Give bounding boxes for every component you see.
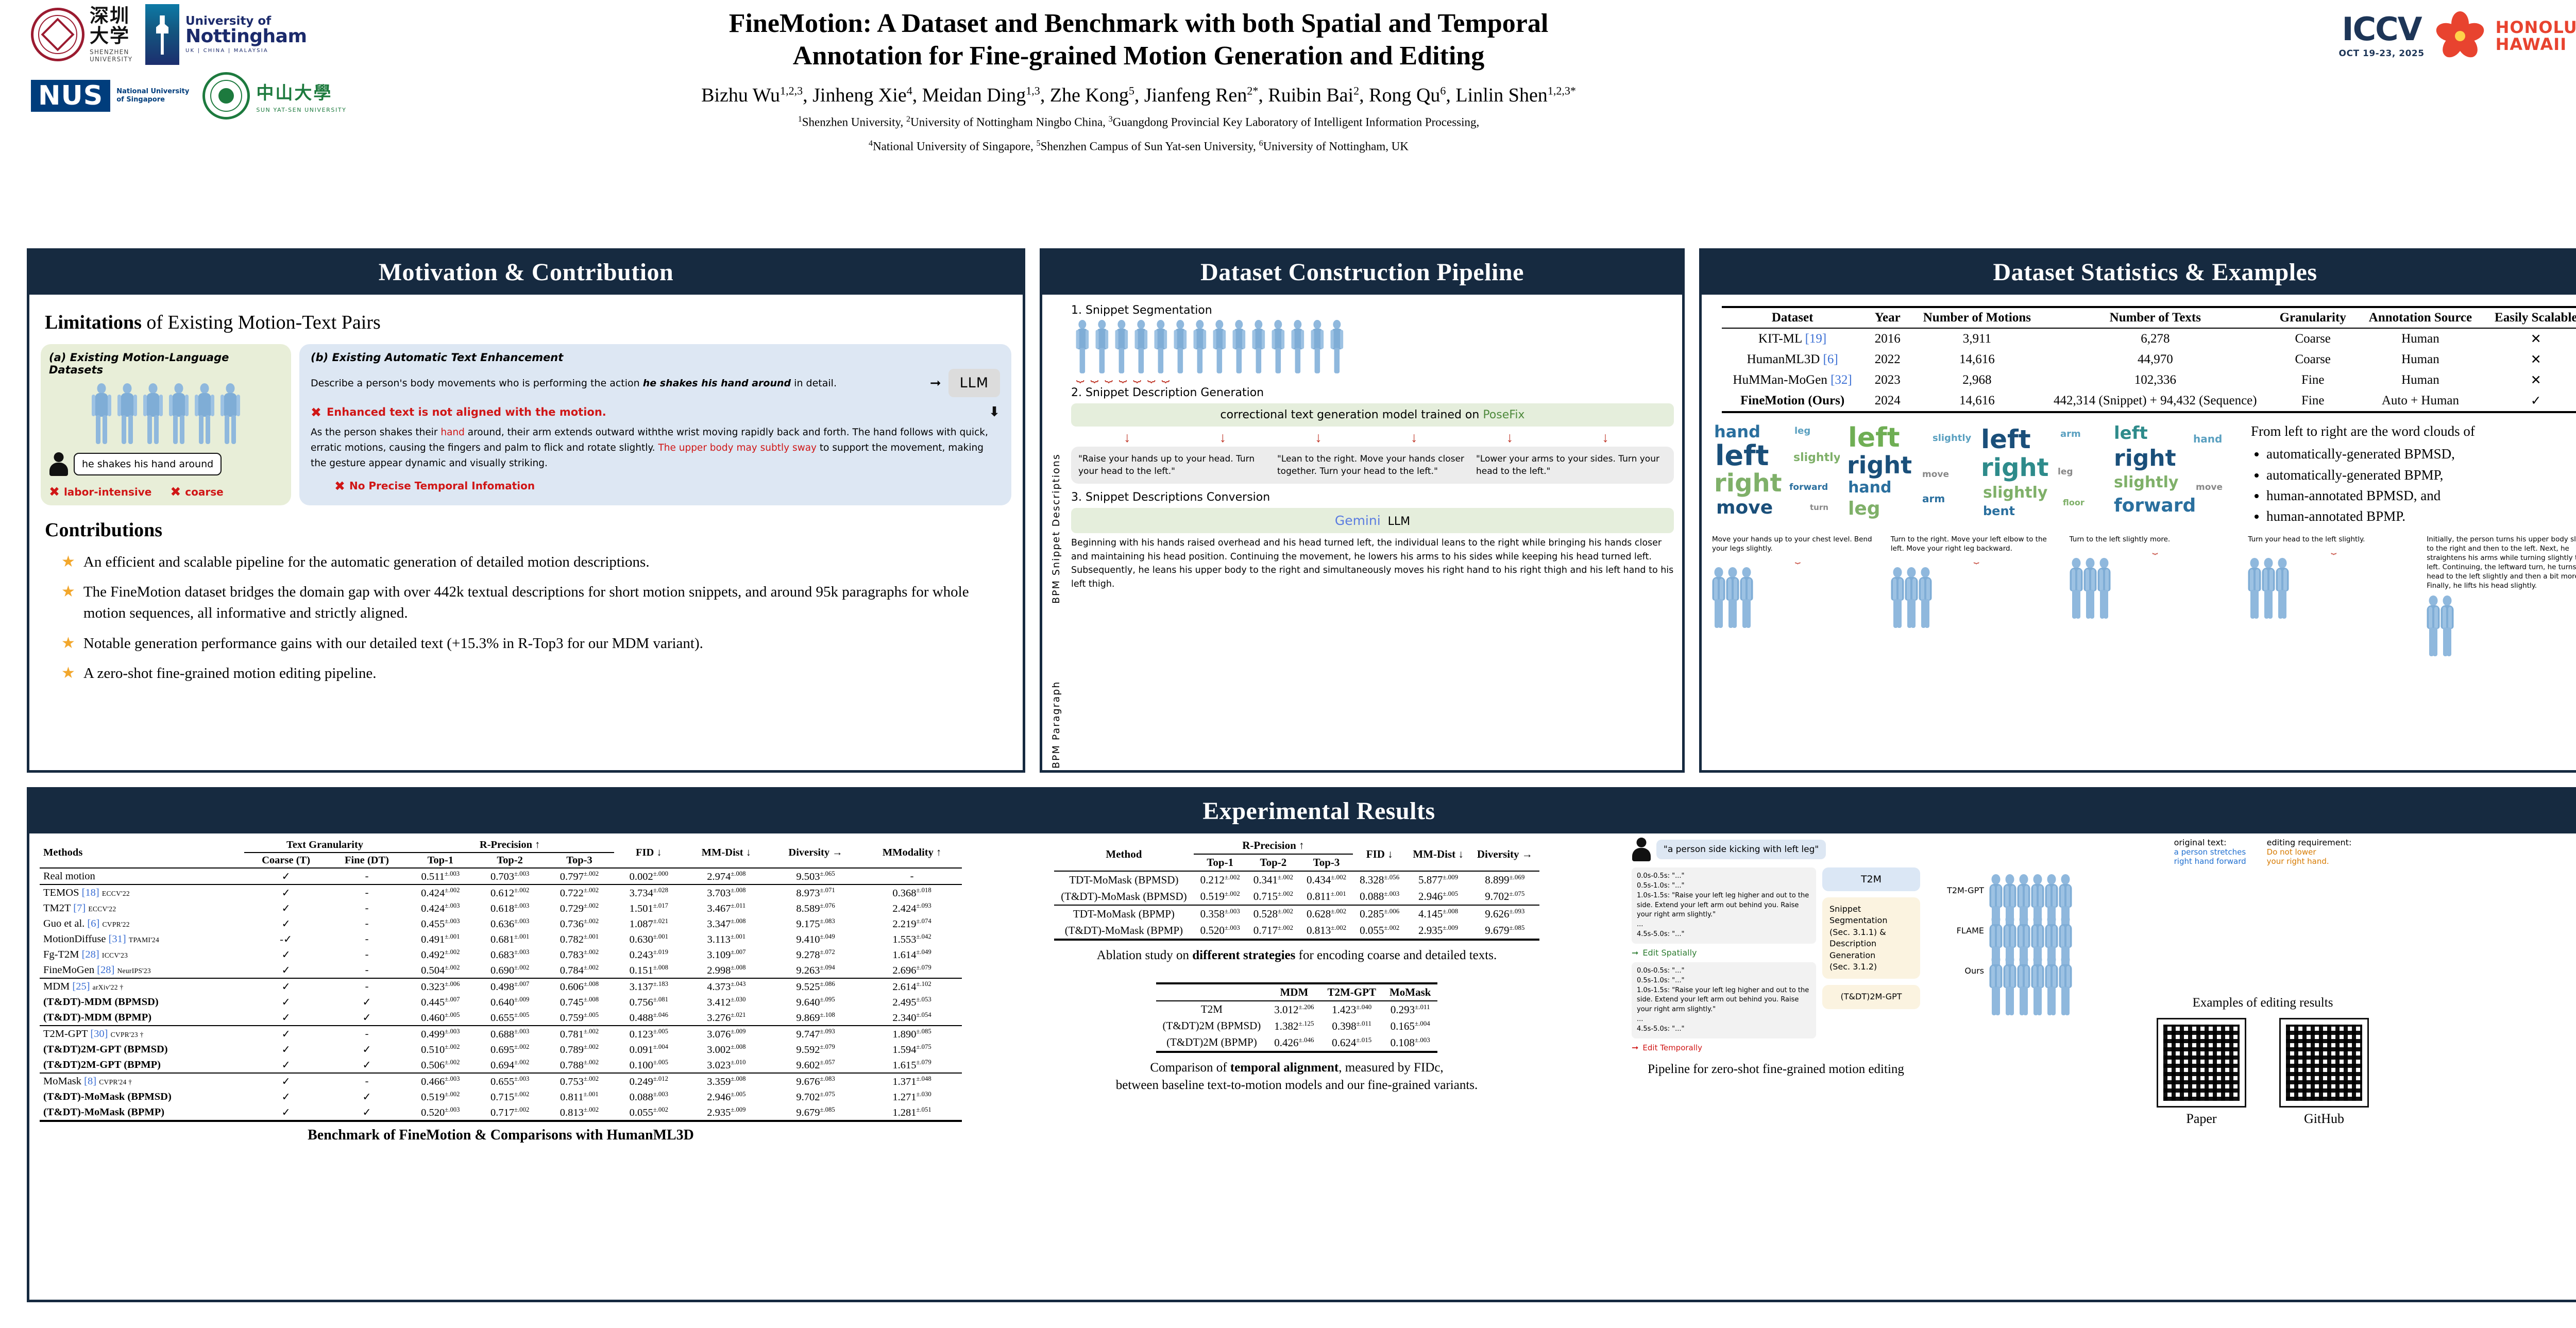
- nottingham-line3: UK | CHINA | MALAYSIA: [185, 48, 307, 54]
- ablation1-caption: Ablation study on different strategies f…: [972, 947, 1621, 965]
- arrow-down-icon: ↓: [1602, 430, 1609, 446]
- example-figure-strip: [2248, 558, 2419, 593]
- cell-top2: 0.703±.003: [475, 868, 545, 884]
- human-figure-icon: [1989, 955, 2003, 990]
- cell-mmdist: 2.998±.008: [684, 962, 769, 978]
- cell-motions: 14,616: [1912, 390, 2042, 412]
- warning-not-aligned-label: Enhanced text is not aligned with the mo…: [327, 406, 606, 418]
- cell-source: Human: [2358, 328, 2483, 349]
- flaw-labor-intensive-label: labor-intensive: [64, 486, 151, 498]
- cell-method: TDT-MoMask (BPMSD): [1054, 871, 1193, 888]
- arrow-down-icon: ⬇: [989, 404, 1000, 420]
- col-top1: Top-1: [1194, 854, 1247, 871]
- cell-diversity: 9.525±.086: [769, 978, 862, 994]
- timeline-after: 0.0s-0.5s: "..." 0.5s-1.0s: "..." 1.0s-1…: [1632, 962, 1816, 1038]
- brace-icon: ⏟: [2070, 544, 2241, 555]
- cell-fid: 0.088±.003: [1353, 888, 1406, 905]
- list-item: ★The FineMotion dataset bridges the doma…: [61, 582, 1011, 624]
- cell-fine: -: [328, 900, 406, 916]
- cell-diversity: 8.973±.071: [769, 884, 862, 900]
- human-figure-icon: [2248, 558, 2261, 593]
- col-year: Year: [1863, 307, 1912, 328]
- prompt-prefix: Describe a person's body movements who i…: [311, 378, 643, 389]
- enhanced-text-red1: hand: [440, 427, 465, 438]
- cell-top1: 0.491±.001: [405, 931, 475, 947]
- conference-city-line1: HONOLULU: [2496, 19, 2576, 36]
- side-label-bpm-paragraph: BPM Paragraph: [1050, 655, 1062, 769]
- example-cell: Move your hands up to your chest level. …: [1712, 535, 1884, 631]
- row-label-t2m-gpt: T2M-GPT: [1927, 886, 1984, 895]
- human-figure-icon: [1270, 320, 1286, 362]
- timeline-line: 0.5s-1.0s: "...": [1637, 976, 1811, 986]
- cell-top3: 0.753±.002: [545, 1073, 614, 1089]
- human-figure-icon: [2017, 914, 2030, 949]
- cell-coarse: ✓: [244, 1057, 328, 1073]
- human-figure-icon: [1309, 320, 1326, 362]
- human-figure-icon: [218, 383, 242, 444]
- cell-top2: 0.717±.002: [1247, 922, 1300, 940]
- human-figure-icon: [1891, 567, 1904, 602]
- row-label-ours: Ours: [1927, 966, 1984, 976]
- cell-method: (T&DT)2M (BPMP): [1156, 1034, 1268, 1052]
- cell-top3: 0.811±.001: [1300, 888, 1353, 905]
- wc-word: left: [1715, 442, 1769, 470]
- cell-mmdist: 3.113±.001: [684, 931, 769, 947]
- cell-mmodality: 1.594±.075: [862, 1042, 962, 1057]
- logo-sun-yat-sen-university: 中山大學 SUN YAT-SEN UNIVERSITY: [202, 72, 346, 120]
- cell-coarse: ✓: [244, 1042, 328, 1057]
- original-text-label: original text:: [2174, 838, 2246, 847]
- cell-mmodality: 2.614±.102: [862, 978, 962, 994]
- nottingham-line2: Nottingham: [185, 27, 307, 46]
- arrow-down-icon: ↓: [1124, 430, 1131, 446]
- col-fid: FID ↓: [1353, 838, 1406, 871]
- cell-mmdist: 2.935±.009: [1406, 922, 1470, 940]
- iccv-dates: OCT 19-23, 2025: [2339, 48, 2425, 59]
- human-figure-icon: [1113, 320, 1130, 362]
- row-label-flame: FLAME: [1927, 926, 1984, 935]
- person-icon: [1632, 838, 1651, 861]
- example-figure-strip: [2070, 558, 2241, 593]
- cell-coarse: ✓: [244, 1089, 328, 1104]
- qr-github[interactable]: GitHub: [2281, 1019, 2367, 1127]
- ablation2-caption-line2: between baseline text-to-motion models a…: [972, 1077, 1621, 1095]
- snippet-box-line3: Description Generation: [1829, 938, 1913, 961]
- cell-fid: 1.087±.021: [614, 916, 684, 931]
- conference-city-line2: HAWAII: [2496, 36, 2576, 53]
- affiliation-line2: 4National University of Singapore, 5Shen…: [546, 138, 1731, 155]
- cell-fine: ✓: [328, 1089, 406, 1104]
- col-mm-dist: MM-Dist ↓: [684, 838, 769, 868]
- table-row: (T&DT)2M-GPT (BPMP)✓✓0.506±.0020.694±.00…: [40, 1057, 962, 1073]
- wc-word: hand: [1714, 423, 1760, 440]
- example-text: Turn to the right. Move your left elbow …: [1891, 535, 2062, 553]
- table-row: (T&DT)-MoMask (BPMP)✓✓0.520±.0030.717±.0…: [40, 1104, 962, 1121]
- human-figure-icon: [2003, 955, 2016, 990]
- wc-word: slightly: [2114, 475, 2178, 490]
- cell-method: (T&DT)2M-GPT (BPMSD): [40, 1042, 244, 1057]
- cell-method: Real motion: [40, 868, 244, 884]
- cell-diversity: 9.676±.083: [769, 1073, 862, 1089]
- cell-diversity: 8.589±.076: [769, 900, 862, 916]
- col-motions: Number of Motions: [1912, 307, 2042, 328]
- cell-mmodality: 2.340±.054: [862, 1010, 962, 1026]
- cell-coarse: ✓: [244, 962, 328, 978]
- arrow-right-icon: ➞: [1632, 1043, 1638, 1053]
- person-icon: [49, 452, 69, 476]
- col-diversity: Diversity →: [1470, 838, 1539, 871]
- list-item: human-annotated BPMSD, and: [2266, 486, 2475, 505]
- cell-diversity: 9.503±.065: [769, 868, 862, 884]
- human-figure-icon: [2276, 558, 2289, 593]
- wc-word: arm: [1922, 493, 1945, 504]
- timeline-line: 0.0s-0.5s: "...": [1637, 872, 1811, 881]
- iccv-wordmark: ICCV: [2339, 13, 2425, 45]
- poster-header: 深圳大学 SHENZHEN UNIVERSITY University of N…: [0, 0, 2576, 206]
- benchmark-caption-bold: Benchmark of FineMotion: [308, 1127, 471, 1143]
- cell-top3: 0.736±.002: [545, 916, 614, 931]
- snippet-box-line2: (Sec. 3.1.1) &: [1829, 927, 1913, 938]
- col-top3: Top-3: [545, 853, 614, 868]
- cell-texts: 44,970: [2042, 349, 2268, 370]
- benchmark-caption: Benchmark of FineMotion & Comparisons wi…: [40, 1127, 962, 1144]
- wc-word: leg: [1794, 427, 1810, 436]
- motion-caption-text: he shakes his hand around: [74, 453, 222, 475]
- col-r-precision: R-Precision ↑: [405, 838, 614, 853]
- cross-icon: ✖: [311, 406, 321, 419]
- cell-diversity: 9.175±.083: [769, 916, 862, 931]
- cell-momask: 0.108±.003: [1383, 1034, 1438, 1052]
- poster-title-line1: FineMotion: A Dataset and Benchmark with…: [546, 7, 1731, 40]
- table-row: HumanML3D [6] 2022 14,616 44,970 Coarse …: [1722, 349, 2576, 370]
- cell-t2m-gpt: 1.423±.040: [1320, 1001, 1383, 1018]
- title-block: FineMotion: A Dataset and Benchmark with…: [546, 7, 1731, 156]
- human-figure-icon: [2427, 595, 2440, 631]
- cell-top3: 0.789±.002: [545, 1042, 614, 1057]
- cell-granularity: Coarse: [2268, 349, 2358, 370]
- edit-spatially-label: Edit Spatially: [1642, 948, 1697, 958]
- table-row: (T&DT)-MoMask (BPMP)0.520±.0030.717±.002…: [1054, 922, 1539, 940]
- timeline-line: 0.0s-0.5s: "...": [1637, 966, 1811, 976]
- table-row: MoMask [8] CVPR'24 †✓-0.466±.0030.655±.0…: [40, 1073, 962, 1089]
- example-cell: Initially, the person turns his upper bo…: [2427, 535, 2576, 631]
- cell-mmodality: 1.553±.042: [862, 931, 962, 947]
- cell-year: 2022: [1863, 349, 1912, 370]
- table-row: (T&DT)-MDM (BPMSD)✓✓0.445±.0070.640±.009…: [40, 994, 962, 1010]
- human-figure-icon: [2017, 874, 2030, 909]
- card-a-flaws: ✖ labor-intensive ✖ coarse: [49, 485, 283, 498]
- cell-fid: 0.100±.005: [614, 1057, 684, 1073]
- cell-diversity: 9.626±.093: [1470, 905, 1539, 922]
- cell-mdm: 0.426±.046: [1267, 1034, 1320, 1052]
- snippet-arrow-row: ↓↓↓↓↓↓: [1079, 430, 1653, 446]
- logo-group-top: 深圳大学 SHENZHEN UNIVERSITY University of N…: [31, 4, 307, 65]
- cell-top2: 0.688±.003: [475, 1026, 545, 1042]
- cell-top1: 0.460±.005: [405, 1010, 475, 1026]
- cell-scalable: ✕: [2483, 370, 2576, 390]
- human-figure-icon: [1919, 567, 1932, 602]
- limitations-heading: Limitations of Existing Motion-Text Pair…: [45, 311, 1011, 334]
- cell-top3: 0.782±.001: [545, 931, 614, 947]
- qr-code-icon[interactable]: [2158, 1019, 2245, 1106]
- human-figure-icon: [2031, 955, 2044, 990]
- table-row: (T&DT)2M (BPMSD)1.382±.1250.398±.0110.16…: [1156, 1018, 1438, 1034]
- cell-diversity: 9.679±.085: [769, 1104, 862, 1121]
- panel-title-stats: Dataset Statistics & Examples: [1702, 251, 2576, 295]
- col-text-granularity: Text Granularity: [244, 838, 406, 853]
- col-mdm: MDM: [1267, 983, 1320, 1001]
- cell-top3: 0.729±.002: [545, 900, 614, 916]
- cross-icon: ✖: [170, 485, 181, 498]
- cell-mmodality: 1.615±.079: [862, 1057, 962, 1073]
- qr-code-icon[interactable]: [2281, 1019, 2367, 1106]
- cell-fine: ✓: [328, 1104, 406, 1121]
- cell-diversity: 9.602±.057: [769, 1057, 862, 1073]
- cell-fine: ✓: [328, 1057, 406, 1073]
- cell-mmdist: 5.877±.009: [1406, 871, 1470, 888]
- wc-word: slightly: [1793, 452, 1840, 464]
- cell-mmdist: 3.359±.008: [684, 1073, 769, 1089]
- cell-mmodality: 2.696±.079: [862, 962, 962, 978]
- col-r-precision: R-Precision ↑: [1194, 838, 1353, 854]
- timeline-line: 4.5s-5.0s: "...": [1637, 1025, 1811, 1034]
- cell-source: Auto + Human: [2358, 390, 2483, 412]
- cell-mdm: 3.012±.206: [1267, 1001, 1320, 1018]
- cell-mmodality: 1.371±.048: [862, 1073, 962, 1089]
- logo-university-of-nottingham: University of Nottingham UK | CHINA | MA…: [145, 4, 307, 65]
- cell-method: TEMOS [18] ECCV'22: [40, 884, 244, 900]
- card-existing-text-enhancement: (b) Existing Automatic Text Enhancement …: [299, 344, 1011, 505]
- cell-method: (T&DT)2M-GPT (BPMP): [40, 1057, 244, 1073]
- cell-coarse: -✓: [244, 931, 328, 947]
- cell-mmdist: 3.023±.010: [684, 1057, 769, 1073]
- cell-top2: 0.683±.003: [475, 947, 545, 962]
- cell-diversity: 9.679±.085: [1470, 922, 1539, 940]
- wc-word: leg: [1848, 500, 1880, 518]
- qr-paper[interactable]: Paper: [2158, 1019, 2245, 1127]
- cell-top2: 0.715±.002: [475, 1089, 545, 1104]
- editing-result-row: [1989, 914, 2072, 949]
- cell-fid: 0.285±.006: [1353, 905, 1406, 922]
- conference-badge: ICCV OCT 19-23, 2025 HONOLULU HAWAII: [2339, 13, 2576, 59]
- logo-shenzhen-university: 深圳大学 SHENZHEN UNIVERSITY: [31, 4, 132, 65]
- cell-coarse: ✓: [244, 1010, 328, 1026]
- limitations-heading-rest: of Existing Motion-Text Pairs: [142, 312, 381, 333]
- wc-word: move: [2196, 483, 2223, 492]
- human-figure-icon: [2003, 874, 2016, 909]
- cell-top3: 0.813±.002: [545, 1104, 614, 1121]
- cell-top1: 0.519±.002: [1194, 888, 1247, 905]
- example-text: Turn to the left slightly more.: [2070, 535, 2241, 544]
- cell-fid: 0.055±.002: [614, 1104, 684, 1121]
- table-row: Fg-T2M [28] ICCV'23✓-0.492±.0020.683±.00…: [40, 947, 962, 962]
- prompt-suffix: in detail.: [791, 378, 837, 389]
- cell-method: (T&DT)-MDM (BPMSD): [40, 994, 244, 1010]
- cell-fid: 0.055±.002: [1353, 922, 1406, 940]
- llm-label: LLM: [1388, 515, 1411, 528]
- cell-mmodality: 0.368±.018: [862, 884, 962, 900]
- table-header-group-row: Methods Text Granularity R-Precision ↑ F…: [40, 838, 962, 853]
- timeline-line: 1.0s-1.5s: "Raise your left leg higher a…: [1637, 891, 1811, 921]
- cell-top2: 0.618±.003: [475, 900, 545, 916]
- list-item: human-annotated BPMP.: [2266, 506, 2475, 526]
- logo-nus: NUS National University of Singapore: [31, 80, 189, 112]
- arrow-down-icon: ↓: [1506, 430, 1514, 446]
- timeline-line: ...: [1637, 1015, 1811, 1025]
- qr-paper-label: Paper: [2158, 1111, 2245, 1127]
- col-momask: MoMask: [1383, 983, 1438, 1001]
- temporal-alignment-table: MDM T2M-GPT MoMask T2M3.012±.2061.423±.0…: [1156, 982, 1438, 1053]
- cell-fine: -: [328, 962, 406, 978]
- human-figure-icon: [2045, 874, 2058, 909]
- limitations-row: (a) Existing Motion-Language Datasets he…: [41, 344, 1011, 505]
- arrow-down-icon: ↓: [1411, 430, 1418, 446]
- cell-fine: -: [328, 931, 406, 947]
- poster-root: 深圳大学 SHENZHEN UNIVERSITY University of N…: [0, 0, 2576, 1328]
- col-granularity: Granularity: [2268, 307, 2358, 328]
- cell-top2: 0.655±.003: [475, 1073, 545, 1089]
- wc-word: bent: [1983, 505, 2015, 517]
- panel-experimental-results: Experimental Results Methods Text Granul…: [27, 787, 2576, 1302]
- cell-top3: 0.813±.002: [1300, 922, 1353, 940]
- human-figure-icon: [2045, 955, 2058, 990]
- llm-prompt-row: Describe a person's body movements who i…: [311, 369, 1000, 397]
- cell-top1: 0.212±.002: [1194, 871, 1247, 888]
- ablation1-caption-pre: Ablation study on: [1097, 948, 1192, 962]
- editing-requirement-label: editing requirement:: [2267, 838, 2352, 847]
- example-cell: Turn to the right. Move your left elbow …: [1891, 535, 2062, 631]
- table-row: T2M-GPT [30] CVPR'23 †✓-0.499±.0030.688±…: [40, 1026, 962, 1042]
- cell-method: (T&DT)-MDM (BPMP): [40, 1010, 244, 1026]
- cell-top2: 0.690±.002: [475, 962, 545, 978]
- cell-mdm: 1.382±.125: [1267, 1018, 1320, 1034]
- editing-result-row: [1989, 874, 2072, 909]
- wordcloud-row: hand left right move leg slightly forwar…: [1712, 421, 2576, 527]
- original-text-line2: a person stretches: [2174, 847, 2246, 857]
- human-figure-icon: [2003, 914, 2016, 949]
- cell-method: Fg-T2M [28] ICCV'23: [40, 947, 244, 962]
- example-text: Move your hands up to your chest level. …: [1712, 535, 1884, 553]
- cell-top2: 0.640±.009: [475, 994, 545, 1010]
- wc-word: leg: [2058, 468, 2073, 476]
- cell-top3: 0.811±.001: [545, 1089, 614, 1104]
- example-figure-strip: [1891, 567, 2062, 602]
- cell-mmodality: 1.271±.030: [862, 1089, 962, 1104]
- cell-t2m-gpt: 0.624±.015: [1320, 1034, 1383, 1052]
- cell-top2: 0.612±.002: [475, 884, 545, 900]
- cell-fine: -: [328, 868, 406, 884]
- cell-top2: 0.636±.003: [475, 916, 545, 931]
- human-figure-icon: [1712, 567, 1725, 602]
- ablation1-caption-post: for encoding coarse and detailed texts.: [1295, 948, 1497, 962]
- brace-icon: ⏟: [2248, 544, 2419, 555]
- cell-year: 2024: [1863, 390, 1912, 412]
- cell-diversity: 9.640±.095: [769, 994, 862, 1010]
- table-row: TM2T [7] ECCV'22✓-0.424±.0030.618±.0030.…: [40, 900, 962, 916]
- human-figure-icon: [1905, 567, 1918, 602]
- col-top3: Top-3: [1300, 854, 1353, 871]
- cell-mmdist: 2.974±.008: [684, 868, 769, 884]
- wc-word: right: [1847, 453, 1912, 477]
- cell-granularity: Coarse: [2268, 328, 2358, 349]
- cell-texts: 6,278: [2042, 328, 2268, 349]
- list-item: automatically-generated BPMP,: [2266, 465, 2475, 485]
- example-cell: Turn your head to the left slightly. ⏟: [2248, 535, 2419, 631]
- editing-column: "a person side kicking with left leg" 0.…: [1632, 838, 2576, 1144]
- cell-texts: 102,336: [2042, 370, 2268, 390]
- cell-mmodality: 2.424±.093: [862, 900, 962, 916]
- timeline-line: 0.5s-1.0s: "...": [1637, 881, 1811, 891]
- arrow-right-icon: ➞: [1632, 948, 1638, 958]
- cell-top1: 0.323±.006: [405, 978, 475, 994]
- cell-coarse: ✓: [244, 868, 328, 884]
- human-figure-icon: [1211, 320, 1228, 362]
- segmentation-brace-row: ⏟⏟⏟⏟⏟⏟⏟: [1076, 367, 1674, 383]
- cell-fine: ✓: [328, 1042, 406, 1057]
- human-figure-icon: [1740, 567, 1753, 602]
- cell-fine: -: [328, 916, 406, 931]
- wc-word: forward: [2114, 497, 2196, 515]
- col-annotation-source: Annotation Source: [2358, 307, 2483, 328]
- wc-word: forward: [1789, 483, 1828, 492]
- cell-granularity: Fine: [2268, 390, 2358, 412]
- output-model-box: (T&DT)2M-GPT: [1822, 985, 1920, 1009]
- list-item: ★A zero-shot fine-grained motion editing…: [61, 663, 1011, 684]
- card-existing-datasets: (a) Existing Motion-Language Datasets he…: [41, 344, 291, 505]
- cell-motions: 2,968: [1912, 370, 2042, 390]
- cell-motions: 3,911: [1912, 328, 2042, 349]
- llm-box: LLM: [948, 369, 1000, 397]
- cell-scalable: ✕: [2483, 349, 2576, 370]
- example-figure-strip: [2427, 595, 2576, 631]
- panel-dataset-statistics-examples: Dataset Statistics & Examples Dataset Ye…: [1699, 248, 2576, 773]
- cell-method: T2M: [1156, 1001, 1268, 1018]
- cell-method: (T&DT)-MoMask (BPMSD): [1054, 888, 1193, 905]
- ablation2-caption: Comparison of temporal alignment, measur…: [972, 1059, 1621, 1095]
- table-header-row: MDM T2M-GPT MoMask: [1156, 983, 1438, 1001]
- col-fine-dt: Fine (DT): [328, 853, 406, 868]
- flaw-no-temporal-label: No Precise Temporal Infomation: [349, 480, 535, 492]
- table-row: (T&DT)-MoMask (BPMSD)0.519±.0020.715±.00…: [1054, 888, 1539, 905]
- col-top2: Top-2: [1247, 854, 1300, 871]
- contributions-heading-label: Contributions: [45, 519, 162, 541]
- human-figure-icon: [1989, 874, 2003, 909]
- col-diversity: Diversity →: [769, 838, 862, 868]
- human-figure-icon: [1153, 320, 1169, 362]
- cell-method: T2M-GPT [30] CVPR'23 †: [40, 1026, 244, 1042]
- cell-dataset: HumanML3D [6]: [1722, 349, 1863, 370]
- timeline-before: 0.0s-0.5s: "..." 0.5s-1.0s: "..." 1.0s-1…: [1632, 867, 1816, 944]
- wc-word: left: [1848, 424, 1900, 451]
- cell-dataset: KIT-ML [19]: [1722, 328, 1863, 349]
- cell-scalable: ✓: [2483, 390, 2576, 412]
- human-figure-icon: [1133, 320, 1149, 362]
- table-row: MotionDiffuse [31] TPAMI'24-✓-0.491±.001…: [40, 931, 962, 947]
- cell-mmodality: 1.614±.049: [862, 947, 962, 962]
- cell-fine: -: [328, 1073, 406, 1089]
- edit-temporally-label: Edit Temporally: [1642, 1043, 1702, 1052]
- editing-pipeline-caption: Pipeline for zero-shot fine-grained moti…: [1632, 1062, 1920, 1077]
- caption-bubble-row: he shakes his hand around: [49, 452, 283, 476]
- human-figure-icon: [2083, 558, 2097, 593]
- prompt-action: he shakes his hand around: [643, 378, 791, 389]
- cell-dataset: FineMotion (Ours): [1722, 390, 1863, 412]
- flaw-labor-intensive: ✖ labor-intensive: [49, 485, 151, 498]
- human-figure-icon: [1989, 914, 2003, 949]
- enhanced-text-part1: As the person shakes their: [311, 427, 440, 438]
- cell-t2m-gpt: 0.398±.011: [1320, 1018, 1383, 1034]
- cell-mmdist: 3.467±.011: [684, 900, 769, 916]
